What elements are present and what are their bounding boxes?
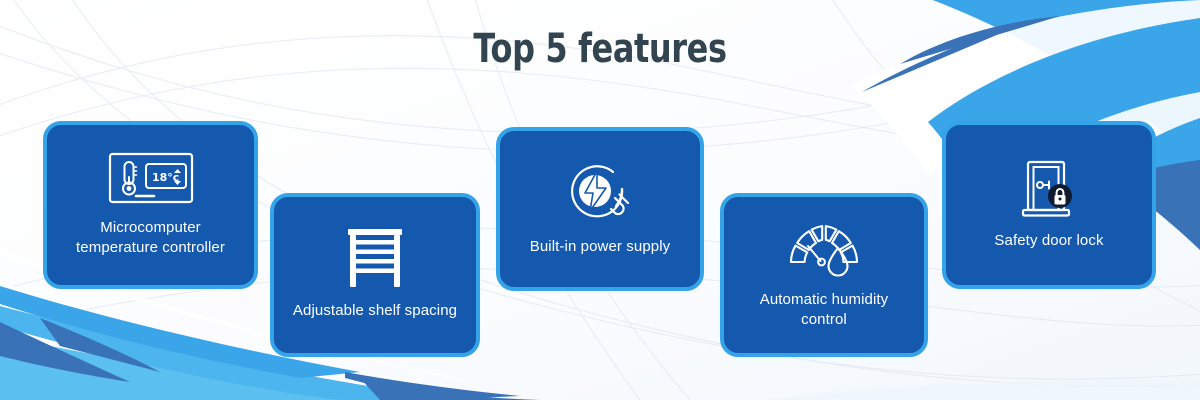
feature-card-label: Adjustable shelf spacing (293, 301, 457, 321)
feature-card-safety-door-lock[interactable]: Safety door lock (942, 121, 1156, 289)
feature-card-label: Microcomputer temperature controller (59, 218, 242, 258)
feature-card-label: Automatic humidity control (736, 290, 912, 330)
feature-card-automatic-humidity-control[interactable]: Automatic humidity control (720, 193, 928, 357)
feature-card-microcomputer-temperature-controller[interactable]: 18°c Microcomputer temperature controlle… (43, 121, 258, 289)
feature-card-built-in-power-supply[interactable]: Built-in power supply (496, 127, 704, 291)
power-plug-bolt-icon (566, 161, 634, 225)
thermostat-icon: 18°c (108, 152, 194, 204)
feature-card-adjustable-shelf-spacing[interactable]: Adjustable shelf spacing (270, 193, 480, 357)
feature-card-label: Built-in power supply (530, 237, 671, 257)
feature-card-label: Safety door lock (994, 231, 1103, 251)
features-infographic: Top 5 features 18°c (0, 0, 1200, 400)
humidity-gauge-icon (786, 220, 862, 278)
door-lock-icon (1018, 159, 1080, 219)
feature-card-list: 18°c Microcomputer temperature controlle… (0, 0, 1200, 400)
shelf-rack-icon (344, 229, 406, 289)
